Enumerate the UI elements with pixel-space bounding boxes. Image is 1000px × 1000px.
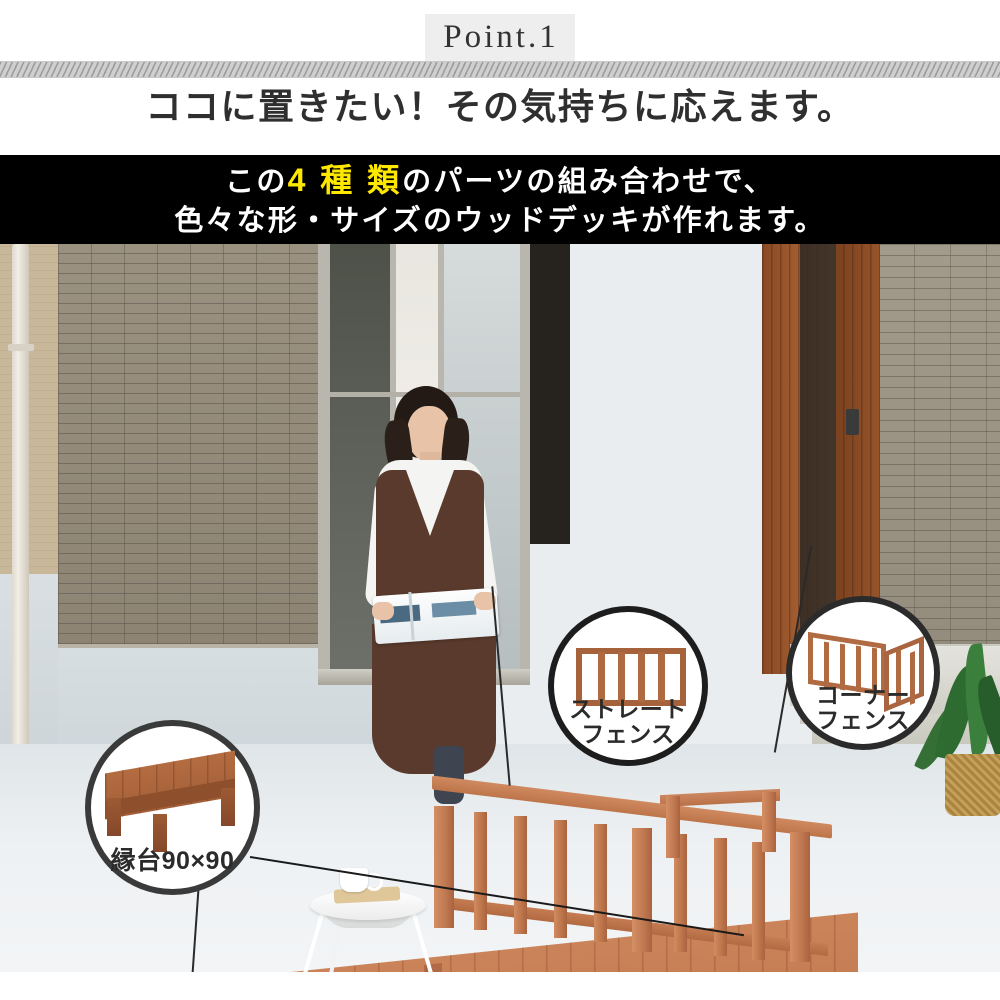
railing-baluster [514,816,527,934]
v-neckline [406,470,454,536]
striped-divider [0,61,1000,78]
leg [434,746,464,804]
product-photo: 縁台90×90 ストレートフェンス [0,244,1000,972]
page-headline: ココに置きたい！その気持ちに応えます。 [0,84,1000,130]
railing-post [434,806,454,928]
label-line-1: コーナー [816,682,910,708]
label-line-2: フェンス [816,707,910,733]
person-reading [350,374,540,794]
callout-straight-fence[interactable]: ストレートフェンス [548,606,708,766]
point-badge: Point.1 [425,14,574,63]
banner-highlight: 4 種 類 [288,162,403,198]
banner-text-a: この [225,166,287,198]
railing-back-post [666,796,680,858]
railing-corner-post [790,832,810,962]
banner-line-1: この4 種 類のパーツの組み合わせで、 [225,159,775,202]
callout-corner-fence[interactable]: コーナーフェンス [786,596,940,750]
marketing-page: Point.1 ココに置きたい！その気持ちに応えます。 この4 種 類のパーツの… [0,0,1000,1000]
banner-text-b: のパーツの組み合わせで、 [402,166,775,198]
railing-post [632,828,652,952]
beige-wall [0,244,58,574]
callout-corner-fence-label: コーナーフェンス [792,683,934,735]
plant-basket [945,754,1000,816]
callout-straight-fence-label: ストレートフェンス [554,697,702,749]
callout-endai[interactable]: 縁台90×90 [85,720,260,895]
pipe-clip [8,344,34,351]
railing-baluster [714,838,727,956]
railing-baluster [594,824,607,942]
point-badge-row: Point.1 [0,14,1000,63]
label-line-2: フェンス [581,721,675,747]
railing-baluster [474,812,487,930]
feature-banner: この4 種 類のパーツの組み合わせで、 色々な形・サイズのウッドデッキが作れます… [0,155,1000,244]
callout-endai-label: 縁台90×90 [91,847,254,875]
downpipe [12,244,29,774]
railing-baluster [554,820,567,938]
railing-back-post [762,792,776,852]
hand-left [372,602,394,620]
railing-baluster [752,842,765,960]
banner-line-2: 色々な形・サイズのウッドデッキが作れます。 [174,202,825,241]
brick-wall-left [58,244,320,644]
label-line-1: ストレート [569,696,687,722]
door-lock-icon [846,409,859,435]
